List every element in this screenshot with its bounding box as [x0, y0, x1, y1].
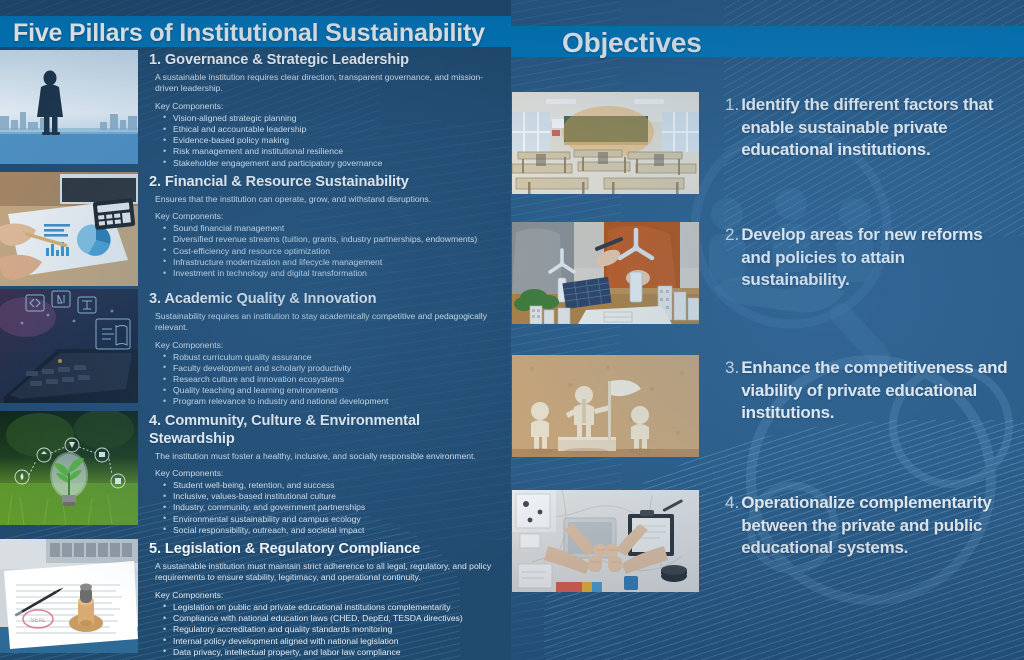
- list-item: Environmental sustainability and campus …: [163, 514, 501, 525]
- objective-3-text-block: 3. Enhance the competitiveness and viabi…: [725, 357, 1024, 425]
- list-item: Robust curriculum quality assurance: [163, 352, 501, 363]
- list-item: Research culture and innovation ecosyste…: [163, 374, 501, 385]
- objective-4-text-block: 4. Operationalize complementarity betwee…: [725, 492, 1024, 560]
- objective-3-image: [512, 355, 699, 457]
- objective-1-text-block: 1. Identify the different factors that e…: [725, 94, 1024, 162]
- objectives-list: 1. Identify the different factors that e…: [511, 0, 1024, 660]
- svg-text:SEAL: SEAL: [30, 618, 46, 624]
- list-item: Sound financial management: [163, 223, 501, 234]
- objective-item-4: 4. Operationalize complementarity betwee…: [511, 490, 1024, 592]
- objective-item-2: 2. Develop areas for new reforms and pol…: [511, 222, 1024, 324]
- objective-2-text: Develop areas for new reforms and polici…: [741, 224, 1011, 292]
- pillar-item-1: 1. Governance & Strategic Leadership A s…: [0, 50, 511, 169]
- pillar-4-description: The institution must foster a healthy, i…: [155, 451, 500, 462]
- list-item: Stakeholder engagement and participatory…: [163, 158, 501, 169]
- list-item: Risk management and institutional resili…: [163, 146, 501, 157]
- pillar-1-body: 1. Governance & Strategic Leadership A s…: [149, 50, 511, 169]
- list-item: Cost-efficiency and resource optimizatio…: [163, 246, 501, 257]
- left-panel-title: Five Pillars of Institutional Sustainabi…: [13, 19, 485, 47]
- pillar-4-components-label: Key Components:: [155, 468, 501, 479]
- list-item: Industry, community, and government part…: [163, 502, 501, 513]
- pillar-4-body: 4. Community, Culture & Environmental St…: [149, 411, 511, 536]
- list-item: Social responsibility, outreach, and soc…: [163, 525, 501, 536]
- pillar-1-image: [0, 50, 138, 164]
- list-item: Regulatory accreditation and quality sta…: [163, 624, 501, 635]
- objective-item-3: 3. Enhance the competitiveness and viabi…: [511, 355, 1024, 457]
- right-panel-title: Objectives: [562, 27, 702, 59]
- pillar-5-description: A sustainable institution must maintain …: [155, 561, 500, 584]
- pillar-4-image: [0, 411, 138, 525]
- objective-2-number: 2.: [725, 224, 739, 246]
- pillar-item-5: SEAL: [0, 539, 511, 658]
- pillar-1-description: A sustainable institution requires clear…: [155, 72, 500, 95]
- list-item: Compliance with national education laws …: [163, 613, 501, 624]
- pillar-1-title: 1. Governance & Strategic Leadership: [149, 51, 501, 69]
- left-panel: Five Pillars of Institutional Sustainabi…: [0, 0, 511, 660]
- pillar-2-components-label: Key Components:: [155, 211, 501, 222]
- poster-canvas: Five Pillars of Institutional Sustainabi…: [0, 0, 1024, 660]
- objective-item-1: 1. Identify the different factors that e…: [511, 92, 1024, 194]
- pillar-item-2: 2. Financial & Resource Sustainability E…: [0, 172, 511, 286]
- list-item: Evidence-based policy making: [163, 135, 501, 146]
- list-item: Investment in technology and digital tra…: [163, 268, 501, 279]
- list-item: Data privacy, intellectual property, and…: [163, 647, 501, 658]
- list-item: Internal policy development aligned with…: [163, 636, 501, 647]
- objective-2-text-block: 2. Develop areas for new reforms and pol…: [725, 224, 1024, 292]
- pillar-2-body: 2. Financial & Resource Sustainability E…: [149, 172, 511, 279]
- objective-4-text: Operationalize complementarity between t…: [741, 492, 1011, 560]
- pillar-2-title: 2. Financial & Resource Sustainability: [149, 173, 501, 191]
- objective-4-image: [512, 490, 699, 592]
- pillar-5-components-label: Key Components:: [155, 590, 501, 601]
- list-item: Infrastructure modernization and lifecyc…: [163, 257, 501, 268]
- right-panel: 1. Identify the different factors that e…: [511, 0, 1024, 660]
- list-item: Faculty development and scholarly produc…: [163, 363, 501, 374]
- list-item: Ethical and accountable leadership: [163, 124, 501, 135]
- pillar-5-title: 5. Legislation & Regulatory Compliance: [149, 540, 501, 558]
- pillar-3-components: Robust curriculum quality assurance Facu…: [163, 352, 501, 408]
- pillar-5-components: Legislation on public and private educat…: [163, 602, 501, 658]
- pillar-1-components: Vision-aligned strategic planning Ethica…: [163, 113, 501, 169]
- objective-3-number: 3.: [725, 357, 739, 379]
- pillar-2-description: Ensures that the institution can operate…: [155, 194, 500, 205]
- pillar-3-title: 3. Academic Quality & Innovation: [149, 290, 501, 308]
- pillar-item-3: 3. Academic Quality & Innovation Sustain…: [0, 289, 511, 408]
- pillar-3-image: [0, 289, 138, 403]
- pillar-4-components: Student well-being, retention, and succe…: [163, 480, 501, 536]
- list-item: Legislation on public and private educat…: [163, 602, 501, 613]
- pillar-4-title: 4. Community, Culture & Environmental St…: [149, 412, 501, 448]
- objective-1-image: [512, 92, 699, 194]
- pillar-1-components-label: Key Components:: [155, 101, 501, 112]
- objective-2-image: [512, 222, 699, 324]
- list-item: Program relevance to industry and nation…: [163, 396, 501, 407]
- pillar-3-body: 3. Academic Quality & Innovation Sustain…: [149, 289, 511, 408]
- pillar-3-description: Sustainability requires an institution t…: [155, 311, 500, 334]
- list-item: Diversified revenue streams (tuition, gr…: [163, 234, 501, 245]
- list-item: Inclusive, values-based institutional cu…: [163, 491, 501, 502]
- pillar-2-image: [0, 172, 138, 286]
- objective-3-text: Enhance the competitiveness and viabilit…: [741, 357, 1011, 425]
- list-item: Quality teaching and learning environmen…: [163, 385, 501, 396]
- list-item: Vision-aligned strategic planning: [163, 113, 501, 124]
- objective-4-number: 4.: [725, 492, 739, 514]
- pillar-item-4: 4. Community, Culture & Environmental St…: [0, 411, 511, 536]
- pillar-2-components: Sound financial management Diversified r…: [163, 223, 501, 279]
- objective-1-text: Identify the different factors that enab…: [741, 94, 1011, 162]
- pillar-5-body: 5. Legislation & Regulatory Compliance A…: [149, 539, 511, 658]
- list-item: Student well-being, retention, and succe…: [163, 480, 501, 491]
- objective-1-number: 1.: [725, 94, 739, 116]
- pillars-list: 1. Governance & Strategic Leadership A s…: [0, 50, 511, 660]
- pillar-5-image: SEAL: [0, 539, 138, 653]
- pillar-3-components-label: Key Components:: [155, 340, 501, 351]
